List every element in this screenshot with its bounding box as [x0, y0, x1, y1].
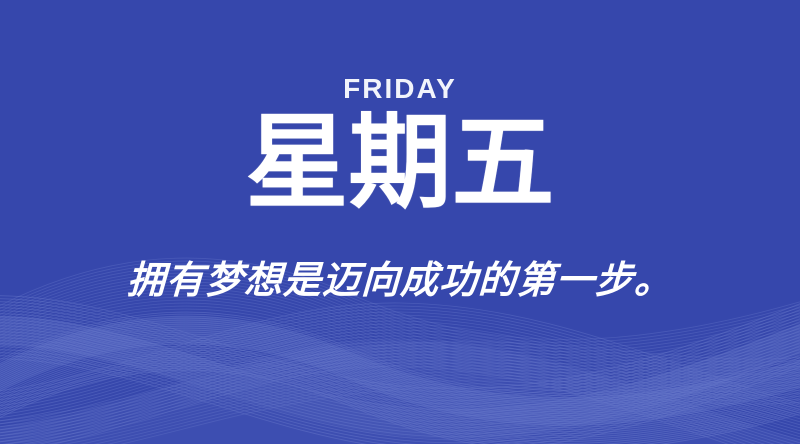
weekday-english-label: FRIDAY	[0, 74, 800, 104]
friday-greeting-card: FRIDAY 星期五 拥有梦想是迈向成功的第一步。	[0, 0, 800, 444]
motivational-quote: 拥有梦想是迈向成功的第一步。	[0, 259, 800, 303]
text-content: FRIDAY 星期五 拥有梦想是迈向成功的第一步。	[0, 0, 800, 444]
weekday-chinese-title: 星期五	[0, 111, 800, 215]
